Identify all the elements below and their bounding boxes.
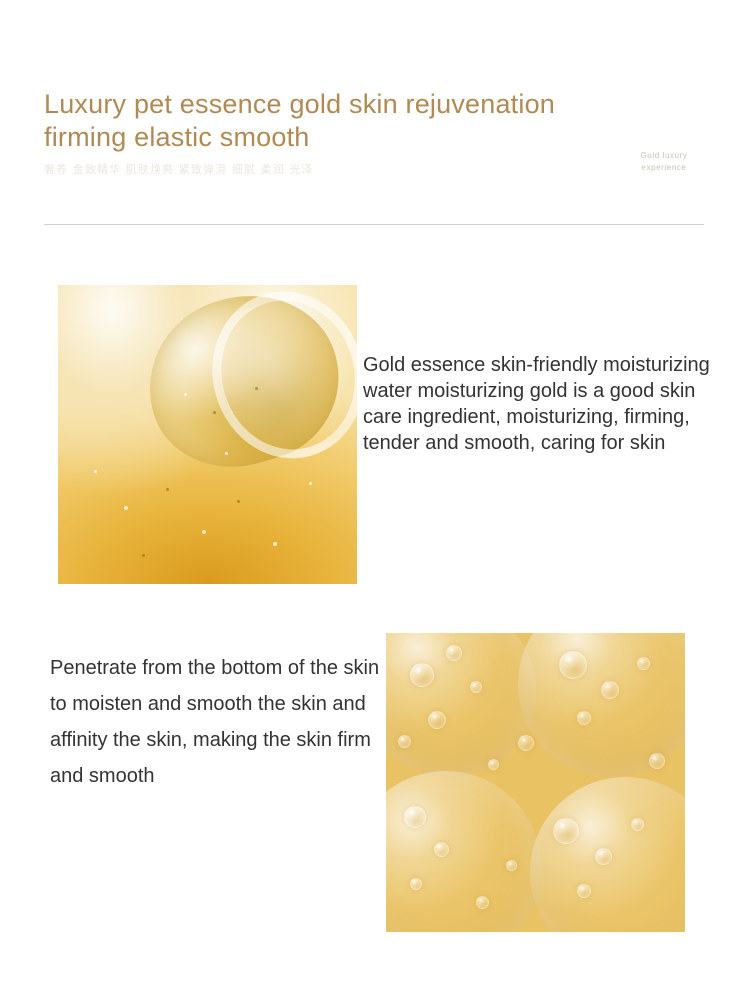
serum-bubble <box>637 657 650 670</box>
serum-bubble <box>410 878 422 890</box>
serum-bubble <box>446 645 462 661</box>
glitter-speck <box>184 393 187 396</box>
serum-bubble <box>470 681 482 693</box>
corner-tagline: Gold luxury experience <box>624 150 704 174</box>
section-2-description: Penetrate from the bottom of the skin to… <box>50 650 380 794</box>
page-title: Luxury pet essence gold skin rejuvenatio… <box>44 88 634 154</box>
product-detail-page: Luxury pet essence gold skin rejuvenatio… <box>0 0 749 1000</box>
serum-bubble <box>476 896 489 909</box>
gold-serum-bubbles-image <box>386 633 685 932</box>
serum-bubble <box>577 711 591 725</box>
section-1-description: Gold essence skin-friendly moisturizing … <box>363 352 721 456</box>
serum-bubble <box>488 759 499 770</box>
serum-bubble <box>428 711 446 729</box>
header-divider <box>44 224 704 225</box>
serum-bubble <box>518 735 534 751</box>
serum-bubble <box>649 753 665 769</box>
serum-bubble <box>506 860 517 871</box>
page-header: Luxury pet essence gold skin rejuvenatio… <box>44 88 704 177</box>
page-subtitle-chinese: 奢养 金致精华 肌肤焕亮 紧致弹滑 细腻 柔润 光泽 <box>44 163 704 177</box>
serum-bubble <box>601 681 619 699</box>
gold-glitter-jar-image <box>58 285 357 584</box>
serum-bubble <box>398 735 411 748</box>
serum-bubble <box>410 663 434 687</box>
glitter-speck <box>142 554 145 557</box>
glitter-speck <box>202 530 206 534</box>
